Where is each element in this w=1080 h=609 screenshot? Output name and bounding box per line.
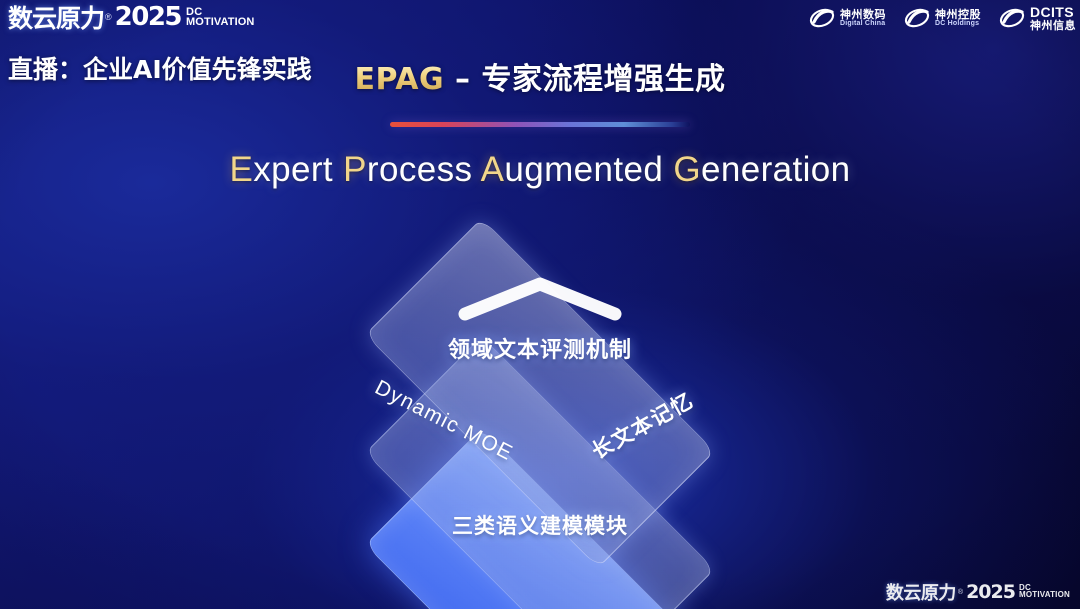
partner-name-en: Digital China [840,20,886,27]
brand-logo: 数云原力 ® 2025 DC MOTIVATION [8,2,254,32]
watermark-motivation: MOTIVATION [1019,592,1070,599]
partner-name-en: DC Holdings [935,20,981,27]
layer-label-bottom: 三类语义建模模块 [452,510,628,540]
partner-name-cn: 神州数码 [840,9,886,20]
subtitle-word-expert: xpert [253,150,343,189]
footer-watermark: 数云原力 ® 2025 DC MOTIVATION [886,579,1070,605]
brand-logo-motivation: MOTIVATION [186,18,254,27]
chevron-up-icon [455,274,625,322]
layer-label-top: 领域文本评测机制 [448,332,632,364]
subtitle-word-augmented: ugmented [504,150,673,189]
subtitle-cap-g: G [673,150,701,189]
swoosh-icon [904,7,930,29]
live-stream-label: 直播：企业AI价值先锋实践 [8,50,312,86]
partner-logo-dcits: DCITS 神州信息 [999,5,1076,31]
subtitle-word-process: rocess [367,150,481,189]
partner-logo-dc-holdings: 神州控股 DC Holdings [904,7,981,29]
brand-logo-name-cn: 数云原力 [8,0,104,35]
partner-name-cn: 神州控股 [935,9,981,20]
partner-logo-group: 神州数码 Digital China 神州控股 DC Holdings DCIT… [809,5,1076,31]
brand-logo-dc-motivation: DC MOTIVATION [186,8,254,27]
swoosh-icon [809,7,835,29]
page-subtitle: Expert Process Augmented Generation [0,150,1080,190]
partner-logo-text: 神州控股 DC Holdings [935,9,981,28]
subtitle-word-generation: eneration [701,150,851,189]
watermark-name-cn: 数云原力 [886,579,956,605]
partner-logo-text: DCITS 神州信息 [1030,5,1076,31]
brand-logo-year: 2025 [115,2,181,32]
subtitle-cap-e: E [229,150,253,189]
watermark-registered-mark: ® [958,589,963,596]
watermark-year: 2025 [966,581,1015,603]
subtitle-cap-a: A [481,150,505,189]
title-acronym: EPAG [355,62,445,97]
partner-name-en: DCITS [1030,5,1076,20]
partner-logo-digital-china: 神州数码 Digital China [809,7,886,29]
subtitle-cap-p: P [343,150,367,189]
partner-logo-text: 神州数码 Digital China [840,9,886,28]
swoosh-icon [999,7,1025,29]
brand-logo-registered-mark: ® [105,12,112,22]
title-chinese: 专家流程增强生成 [481,62,725,97]
layer-stack-diagram: 领域文本评测机制 Dynamic MOE 长文本记忆 三类语义建模模块 [0,214,1080,584]
slide-root: 数云原力 ® 2025 DC MOTIVATION 直播：企业AI价值先锋实践 … [0,0,1080,609]
partner-name-cn: 神州信息 [1030,20,1076,31]
title-divider [390,122,690,127]
watermark-dc-motivation: DC MOTIVATION [1019,585,1070,599]
title-separator: – [444,62,481,97]
